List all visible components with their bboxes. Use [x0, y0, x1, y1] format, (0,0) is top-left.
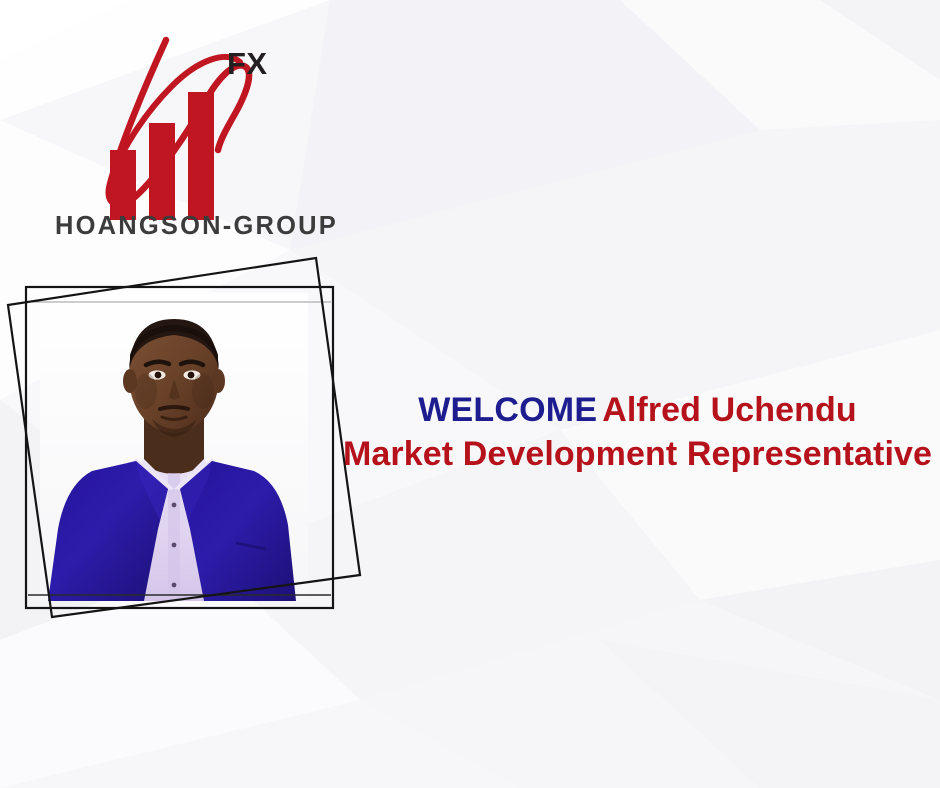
photo-frame-rotated: [8, 258, 360, 617]
slide-stage: FX HOANGSON-GROUP: [0, 0, 940, 788]
fx-label: FX: [227, 48, 268, 79]
person-name: Alfred Uchendu: [602, 391, 857, 429]
growth-bars-swoosh-logo-icon: [48, 28, 338, 223]
photo-double-frame: [0, 250, 380, 630]
portrait-photo-area: [0, 250, 380, 630]
welcome-text-block: WELCOMEAlfred Uchendu Market Development…: [340, 388, 935, 483]
welcome-line-1: WELCOMEAlfred Uchendu: [340, 388, 935, 432]
photo-frame-straight: [26, 287, 333, 608]
person-job-title: Market Development Representative: [340, 432, 935, 476]
company-wordmark: HOANGSON-GROUP: [55, 212, 338, 241]
welcome-greeting: WELCOME: [418, 391, 597, 429]
company-logo: FX HOANGSON-GROUP: [48, 28, 338, 253]
